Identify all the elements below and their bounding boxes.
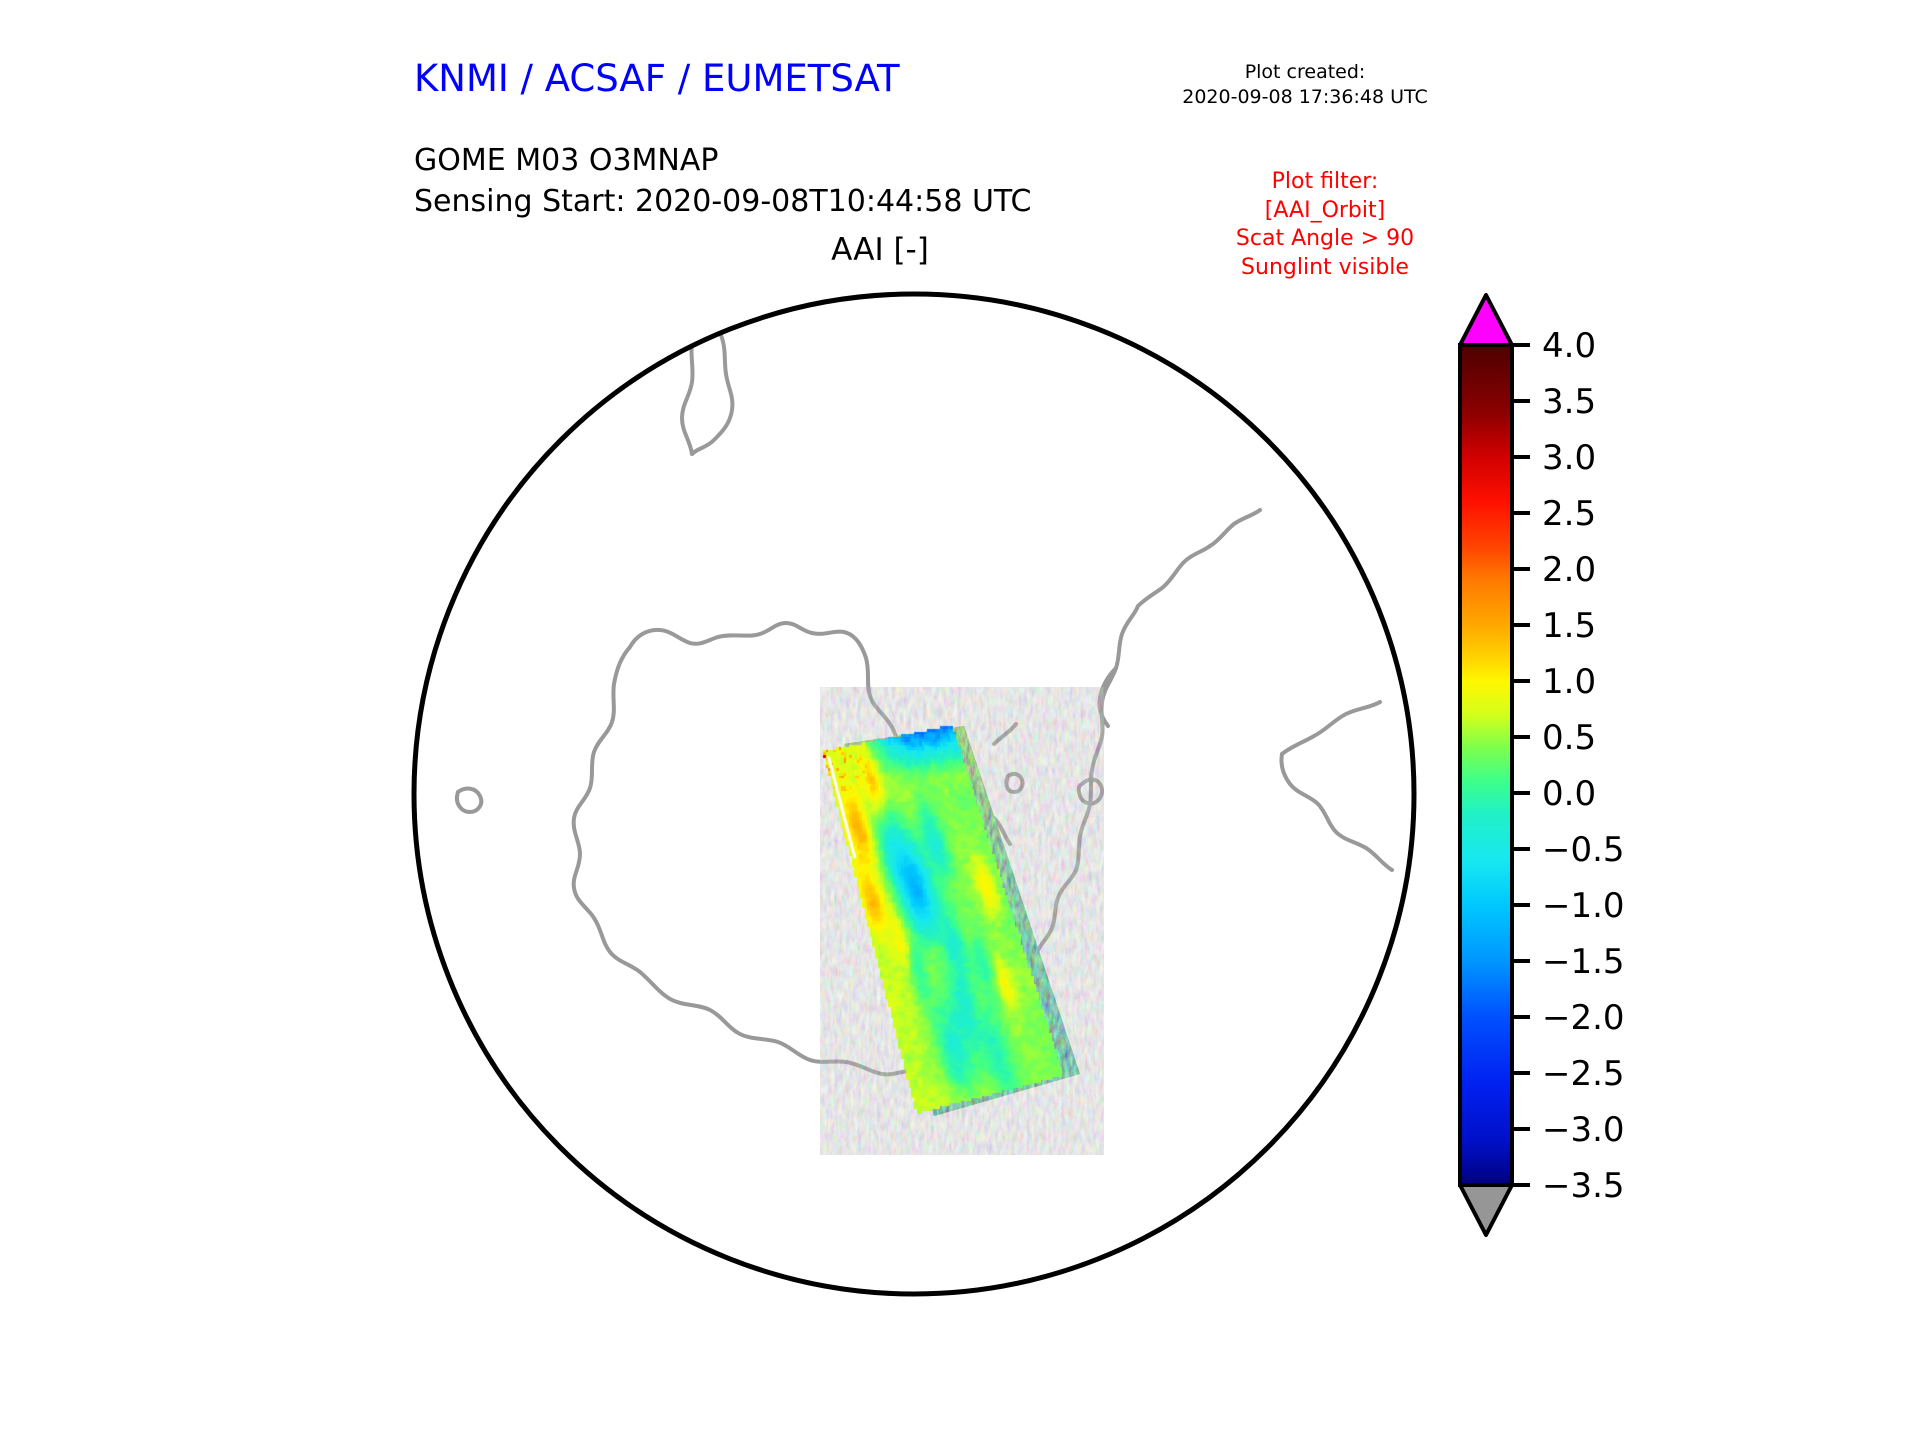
colorbar-tick-label: −2.5 [1542, 1054, 1625, 1094]
colorbar-tick-label: 2.5 [1542, 494, 1596, 534]
colorbar-under-arrow [1460, 1185, 1512, 1235]
colorbar-gradient [1460, 345, 1512, 1185]
colorbar: 4.03.53.02.52.01.51.00.50.0−0.5−1.0−1.5−… [1440, 285, 1780, 1305]
colorbar-over-arrow [1460, 295, 1512, 345]
colorbar-tick-label: 3.0 [1542, 438, 1596, 478]
colorbar-tick-label: 0.5 [1542, 718, 1596, 758]
sensing-start-line: Sensing Start: 2020-09-08T10:44:58 UTC [414, 181, 1031, 222]
plot-filter-scat-angle: Scat Angle > 90 [1180, 225, 1470, 254]
plot-created-block: Plot created: 2020-09-08 17:36:48 UTC [1160, 60, 1450, 110]
plot-filter-block: Plot filter: [AAI_Orbit] Scat Angle > 90… [1180, 168, 1470, 282]
plot-filter-label: Plot filter: [1180, 168, 1470, 197]
organisation-title: KNMI / ACSAF / EUMETSAT [414, 57, 900, 100]
swath-canvas [404, 284, 1424, 1304]
plot-canvas: KNMI / ACSAF / EUMETSAT Plot created: 20… [0, 0, 1920, 1440]
plot-created-label: Plot created: [1160, 60, 1450, 85]
colorbar-tick-label: 3.5 [1542, 382, 1596, 422]
colorbar-tick-label: −3.5 [1542, 1166, 1625, 1206]
colorbar-tick-label: 2.0 [1542, 550, 1596, 590]
instrument-product-line: GOME M03 O3MNAP [414, 140, 1031, 181]
colorbar-tick-label: −2.0 [1542, 998, 1625, 1038]
colorbar-tick-label: −1.5 [1542, 942, 1625, 982]
colorbar-ticks: 4.03.53.02.52.01.51.00.50.0−0.5−1.0−1.5−… [1512, 326, 1625, 1206]
colorbar-tick-label: 4.0 [1542, 326, 1596, 366]
colorbar-tick-label: 1.0 [1542, 662, 1596, 702]
plot-created-timestamp: 2020-09-08 17:36:48 UTC [1160, 85, 1450, 110]
plot-filter-sunglint: Sunglint visible [1180, 254, 1470, 283]
product-info-block: GOME M03 O3MNAP Sensing Start: 2020-09-0… [414, 140, 1031, 222]
colorbar-tick-label: 1.5 [1542, 606, 1596, 646]
colorbar-tick-label: −1.0 [1542, 886, 1625, 926]
colorbar-tick-label: −3.0 [1542, 1110, 1625, 1150]
colorbar-tick-label: −0.5 [1542, 830, 1625, 870]
plot-filter-name: [AAI_Orbit] [1180, 197, 1470, 226]
colorbar-svg: 4.03.53.02.52.01.51.00.50.0−0.5−1.0−1.5−… [1440, 285, 1780, 1305]
polar-map [404, 284, 1424, 1304]
colorbar-tick-label: 0.0 [1542, 774, 1596, 814]
